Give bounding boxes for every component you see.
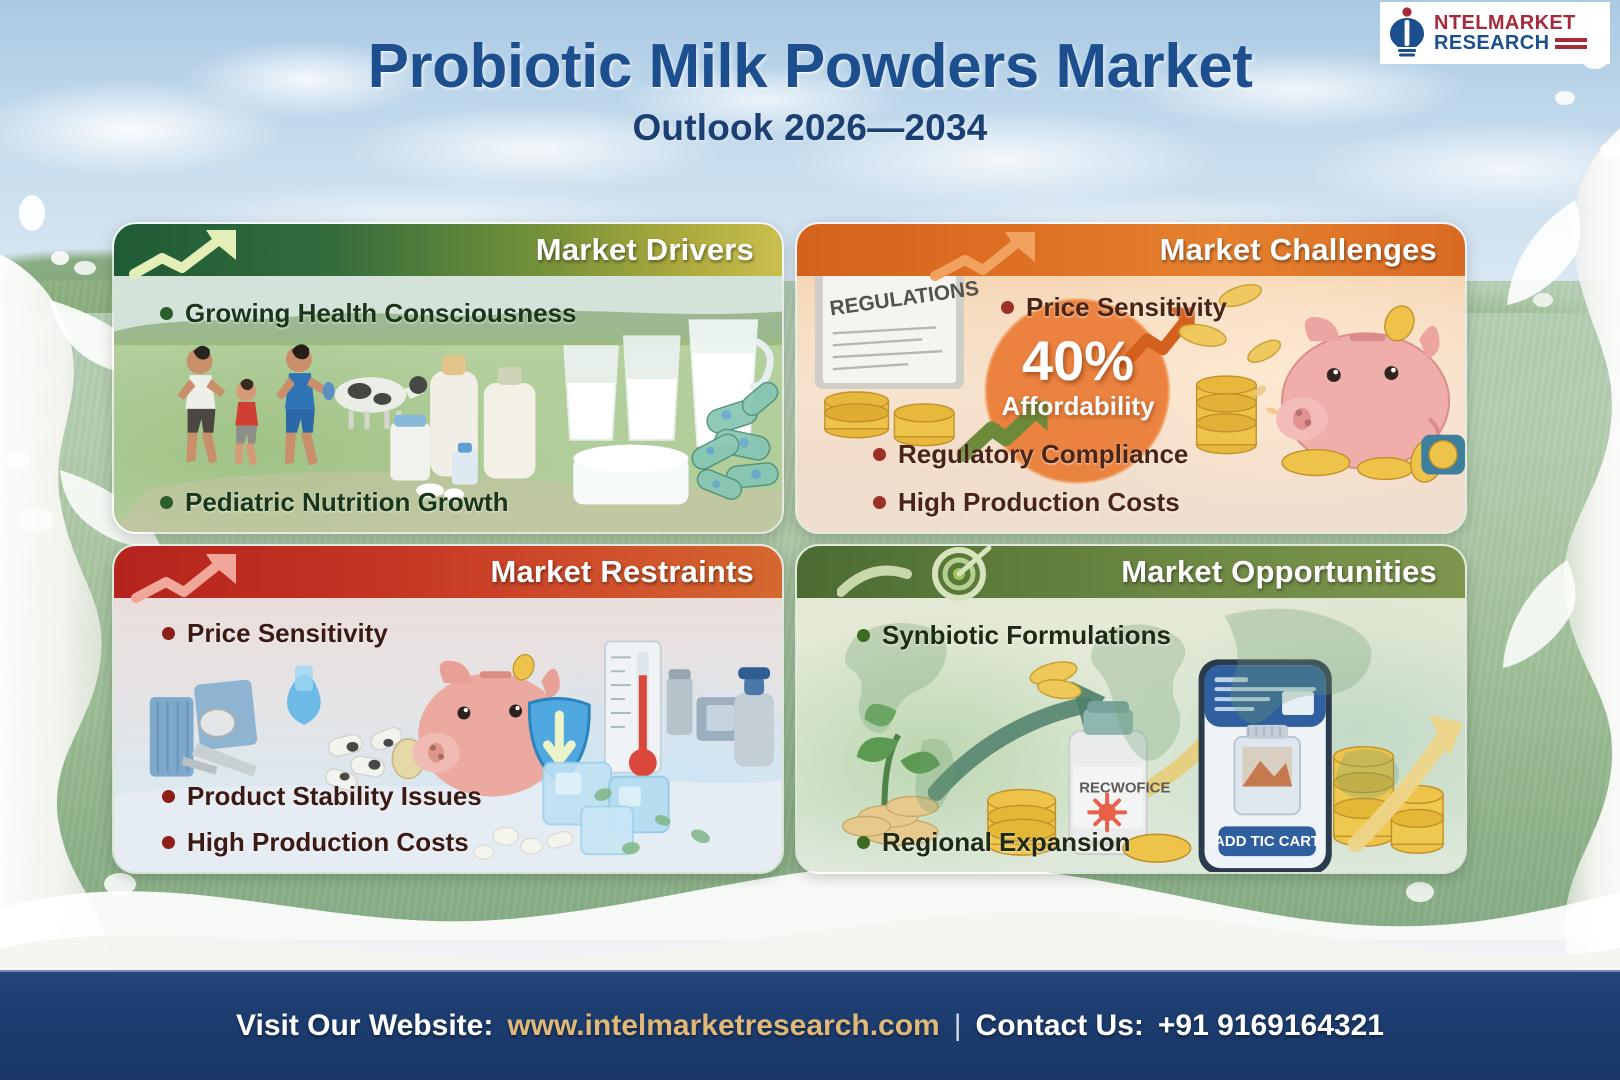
bullet-dot-icon bbox=[162, 836, 175, 849]
footer-separator: | bbox=[954, 1009, 962, 1043]
stat-affordability: 40% Affordability bbox=[973, 316, 1183, 438]
panel-market-challenges[interactable]: REGULATIONS bbox=[795, 222, 1467, 534]
bullet-dot-icon bbox=[162, 790, 175, 803]
contact-phone[interactable]: +91 9169164321 bbox=[1158, 1009, 1384, 1043]
bullet-item: Growing Health Consciousness bbox=[132, 276, 764, 329]
drivers-header: Market Drivers bbox=[114, 224, 782, 276]
upward-trend-arrow-icon bbox=[925, 224, 1075, 282]
footer-content: Visit Our Website: www.intelmarketresear… bbox=[236, 1009, 1384, 1043]
bullet-dot-icon bbox=[160, 496, 173, 509]
logo-line-2-text: RESEARCH bbox=[1434, 33, 1549, 53]
bullet-item: Pediatric Nutrition Growth bbox=[132, 487, 509, 518]
logo-line-1: NTELMARKET bbox=[1434, 13, 1587, 33]
bullet-label: Growing Health Consciousness bbox=[185, 298, 577, 329]
bullet-dot-icon bbox=[162, 627, 175, 640]
bullet-label: Price Sensitivity bbox=[187, 618, 388, 649]
logo-line-2: RESEARCH bbox=[1434, 33, 1587, 53]
website-link[interactable]: www.intelmarketresearch.com bbox=[507, 1009, 939, 1043]
bullet-label: High Production Costs bbox=[898, 487, 1180, 518]
drivers-bullets: Growing Health Consciousness bbox=[114, 276, 782, 329]
stat-value: 40% bbox=[1022, 333, 1134, 389]
bullet-item: High Production Costs bbox=[132, 827, 469, 858]
lightbulb-icon bbox=[1386, 7, 1428, 59]
company-logo[interactable]: NTELMARKET RESEARCH bbox=[1380, 2, 1610, 64]
stat-label: Affordability bbox=[1001, 391, 1154, 422]
restraints-header: Market Restraints bbox=[114, 546, 782, 598]
page-subtitle: Outlook 2026—2034 bbox=[0, 107, 1620, 149]
opportunities-bullets: Synbiotic Formulations bbox=[797, 598, 1465, 651]
bullet-label: Regulatory Compliance bbox=[898, 439, 1188, 470]
restraints-title: Market Restraints bbox=[490, 554, 754, 590]
challenges-title: Market Challenges bbox=[1160, 232, 1437, 268]
bullet-label: Pediatric Nutrition Growth bbox=[185, 487, 509, 518]
bullet-label: Synbiotic Formulations bbox=[882, 620, 1171, 651]
bullet-dot-icon bbox=[1001, 301, 1014, 314]
panel-market-drivers[interactable]: Market Drivers Growing Health Consciousn… bbox=[112, 222, 784, 534]
upward-trend-arrow-icon bbox=[128, 546, 278, 604]
bullet-dot-icon bbox=[873, 496, 886, 509]
footer-bar: Visit Our Website: www.intelmarketresear… bbox=[0, 970, 1620, 1080]
infographic-poster: NTELMARKET RESEARCH Probiotic Milk Powde… bbox=[0, 0, 1620, 1080]
bullet-dot-icon bbox=[873, 448, 886, 461]
bullet-item: High Production Costs bbox=[815, 487, 1180, 518]
panel-market-opportunities[interactable]: RECWOFICE bbox=[795, 544, 1467, 874]
bullet-item: Synbiotic Formulations bbox=[815, 598, 1447, 651]
bullet-item: Price Sensitivity bbox=[132, 598, 764, 649]
bullet-dot-icon bbox=[160, 307, 173, 320]
target-bullseye-icon bbox=[837, 546, 1017, 604]
logo-stripes-icon bbox=[1555, 38, 1587, 49]
restraints-bullets: Price Sensitivity bbox=[114, 598, 782, 649]
panel-market-restraints[interactable]: Market Restraints Price Sensitivity Prod… bbox=[112, 544, 784, 874]
panels-grid: Market Drivers Growing Health Consciousn… bbox=[112, 222, 1456, 874]
page-title: Probiotic Milk Powders Market bbox=[0, 34, 1620, 99]
contact-label: Contact Us: bbox=[976, 1009, 1144, 1043]
bullet-label: Product Stability Issues bbox=[187, 781, 482, 812]
opportunities-title: Market Opportunities bbox=[1121, 554, 1437, 590]
bullet-item: Product Stability Issues bbox=[132, 781, 482, 812]
drivers-title: Market Drivers bbox=[536, 232, 754, 268]
upward-trend-arrow-icon bbox=[128, 224, 278, 282]
bullet-label: High Production Costs bbox=[187, 827, 469, 858]
opportunities-header: Market Opportunities bbox=[797, 546, 1465, 598]
challenges-header: Market Challenges bbox=[797, 224, 1465, 276]
visit-label: Visit Our Website: bbox=[236, 1009, 493, 1043]
bullet-dot-icon bbox=[857, 629, 870, 642]
title-block: Probiotic Milk Powders Market Outlook 20… bbox=[0, 34, 1620, 149]
bullet-item: Regulatory Compliance bbox=[815, 439, 1188, 470]
